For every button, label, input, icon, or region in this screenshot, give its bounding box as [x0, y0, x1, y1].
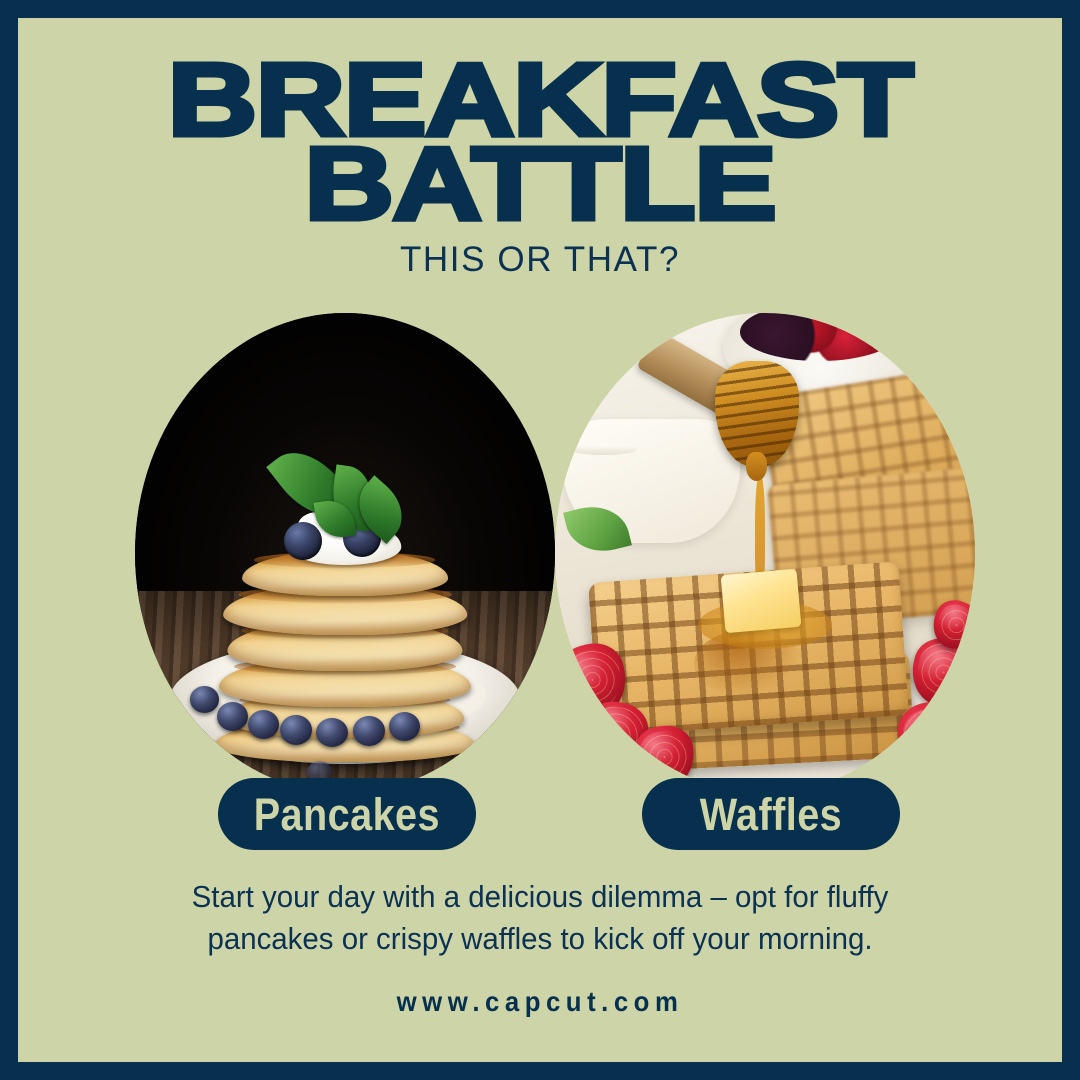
- butter-pat: [721, 569, 801, 633]
- blueberry-icon: [280, 715, 312, 745]
- website-url[interactable]: www.capcut.com: [60, 986, 1020, 1018]
- honey-dipper-tip: [746, 452, 767, 481]
- pancakes-photo: [135, 313, 555, 793]
- blueberry-icon: [217, 702, 248, 731]
- poster-inner: BREAKFAST BATTLE THIS OR THAT?: [18, 18, 1062, 1062]
- page-title-line-2: BATTLE: [18, 140, 1062, 229]
- pancake-scene: [135, 313, 555, 793]
- option-label-waffles-text: Waffles: [700, 792, 842, 837]
- blueberry-icon: [284, 522, 322, 560]
- waffles-photo: [555, 313, 975, 793]
- option-label-pancakes[interactable]: Pancakes: [218, 778, 476, 850]
- page-subtitle: THIS OR THAT?: [18, 240, 1062, 280]
- option-card-pancakes[interactable]: [135, 313, 555, 793]
- option-label-waffles[interactable]: Waffles: [642, 778, 900, 850]
- description-text: Start your day with a delicious dilemma …: [130, 876, 951, 959]
- option-card-waffles[interactable]: [555, 313, 975, 793]
- option-label-pancakes-text: Pancakes: [254, 792, 440, 837]
- honey-dipper-icon: [715, 361, 799, 467]
- waffle-scene: [555, 313, 975, 793]
- poster-frame: BREAKFAST BATTLE THIS OR THAT?: [0, 0, 1080, 1080]
